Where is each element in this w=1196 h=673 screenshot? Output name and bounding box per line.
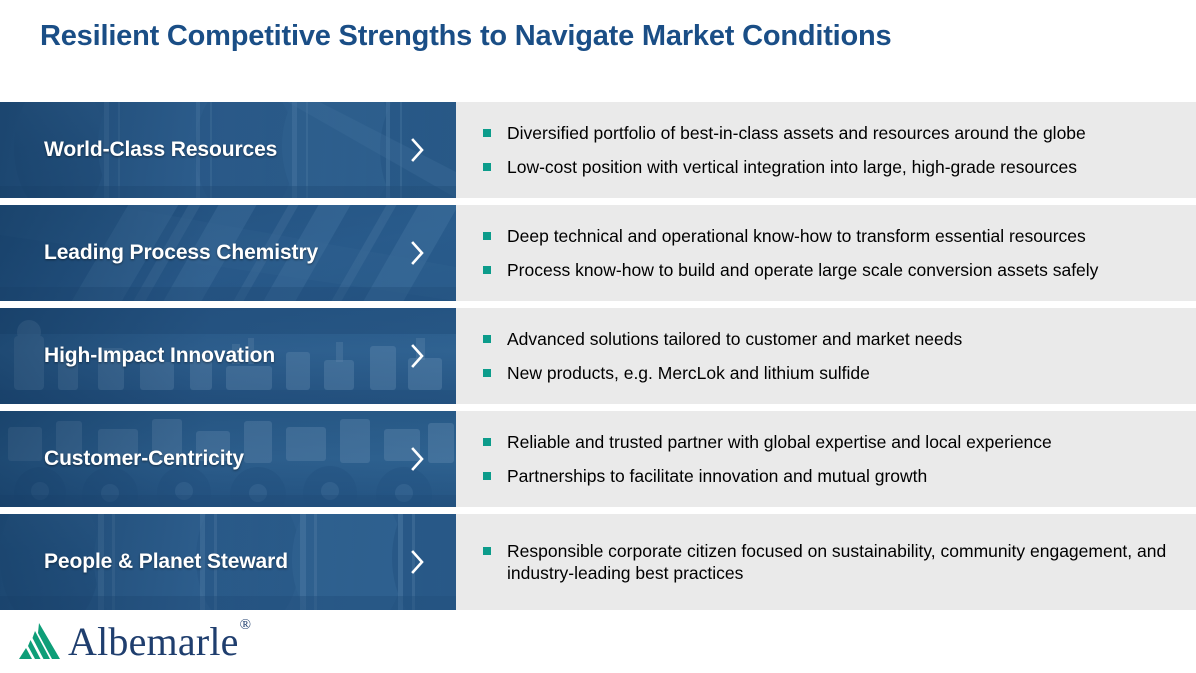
strength-row[interactable]: People & Planet Steward Responsible corp… [0,514,1196,610]
registered-trademark-icon: ® [240,617,252,633]
list-item: Responsible corporate citizen focused on… [483,540,1178,585]
strength-label: People & Planet Steward [44,550,288,574]
strength-bullets-panel: Reliable and trusted partner with global… [456,411,1196,507]
chevron-right-icon[interactable] [409,445,427,473]
albemarle-triangle-mark-icon [16,621,62,661]
bullet-text: Responsible corporate citizen focused on… [507,540,1178,585]
list-item: Diversified portfolio of best-in-class a… [483,122,1178,144]
list-item: Deep technical and operational know-how … [483,225,1178,247]
bullet-square-icon [483,163,491,171]
bullet-square-icon [483,129,491,137]
chevron-right-icon[interactable] [409,548,427,576]
strength-bullets-panel: Responsible corporate citizen focused on… [456,514,1196,610]
strength-bullets-panel: Diversified portfolio of best-in-class a… [456,102,1196,198]
chevron-right-icon[interactable] [409,342,427,370]
bullet-text: New products, e.g. MercLok and lithium s… [507,362,1178,384]
bullet-text: Process know-how to build and operate la… [507,259,1178,281]
list-item: Reliable and trusted partner with global… [483,431,1178,453]
bullet-square-icon [483,438,491,446]
strength-label: High-Impact Innovation [44,344,275,368]
strength-label: Customer-Centricity [44,447,244,471]
bullet-square-icon [483,266,491,274]
bullet-text: Low-cost position with vertical integrat… [507,156,1178,178]
strength-row[interactable]: High-Impact Innovation Advanced solution… [0,308,1196,404]
bullet-text: Reliable and trusted partner with global… [507,431,1178,453]
albemarle-wordmark-text: Albemarle [68,619,239,664]
strength-rows-list: World-Class Resources Diversified portfo… [0,102,1196,617]
strength-header-panel[interactable]: Customer-Centricity [0,411,456,507]
bullet-square-icon [483,472,491,480]
chevron-right-icon[interactable] [409,239,427,267]
bullet-text: Advanced solutions tailored to customer … [507,328,1178,350]
strength-row[interactable]: World-Class Resources Diversified portfo… [0,102,1196,198]
bullet-text: Deep technical and operational know-how … [507,225,1178,247]
bullet-text: Partnerships to facilitate innovation an… [507,465,1178,487]
strength-row[interactable]: Customer-Centricity Reliable and trusted… [0,411,1196,507]
list-item: New products, e.g. MercLok and lithium s… [483,362,1178,384]
strength-header-panel[interactable]: High-Impact Innovation [0,308,456,404]
strength-row[interactable]: Leading Process Chemistry Deep technical… [0,205,1196,301]
list-item: Advanced solutions tailored to customer … [483,328,1178,350]
chevron-right-icon[interactable] [409,136,427,164]
strength-bullets-panel: Advanced solutions tailored to customer … [456,308,1196,404]
strength-header-panel[interactable]: World-Class Resources [0,102,456,198]
bullet-square-icon [483,369,491,377]
strength-bullets-panel: Deep technical and operational know-how … [456,205,1196,301]
strength-header-panel[interactable]: Leading Process Chemistry [0,205,456,301]
strength-header-panel[interactable]: People & Planet Steward [0,514,456,610]
albemarle-wordmark: Albemarle® [68,622,250,662]
albemarle-logo: Albemarle® [16,617,250,665]
strength-label: World-Class Resources [44,138,277,162]
bullet-square-icon [483,335,491,343]
bullet-square-icon [483,547,491,555]
list-item: Partnerships to facilitate innovation an… [483,465,1178,487]
list-item: Process know-how to build and operate la… [483,259,1178,281]
list-item: Low-cost position with vertical integrat… [483,156,1178,178]
page-title: Resilient Competitive Strengths to Navig… [40,20,892,53]
strength-label: Leading Process Chemistry [44,241,318,265]
bullet-text: Diversified portfolio of best-in-class a… [507,122,1178,144]
bullet-square-icon [483,232,491,240]
